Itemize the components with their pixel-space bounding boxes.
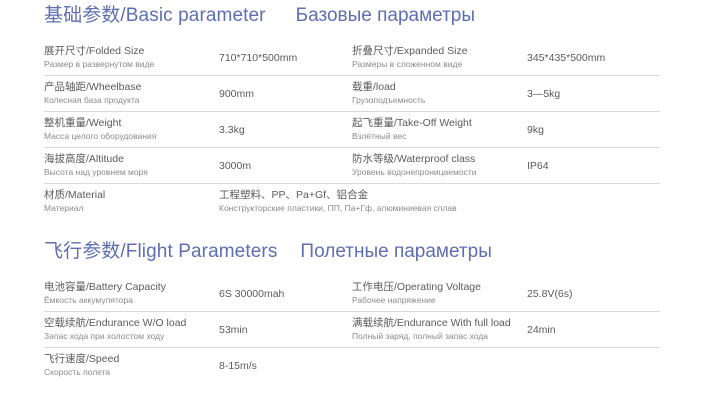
spec-table-flight: 电池容量/Battery Capacity Ёмкость аккумулято… [44, 276, 660, 383]
spec-label: 折叠尺寸/Expanded Size Размеры в сложенном в… [352, 44, 527, 71]
spec-label-sub: Размер в развернутом виде [44, 58, 213, 71]
spec-label: 材质/Material Материал [44, 188, 219, 215]
table-row: 飞行速度/Speed Скорость полета 8-15m/s [44, 347, 660, 383]
spec-label-sub: Полный заряд, полный запас хода [352, 330, 521, 343]
spec-label: 电池容量/Battery Capacity Ёмкость аккумулято… [44, 280, 219, 307]
spec-value-main: 345*435*500mm [527, 51, 660, 65]
section-heading-basic: 基础参数/Basic parameter Базовые параметры [0, 0, 716, 40]
spec-label-sub: Материал [44, 202, 213, 215]
spec-label: 产品轴距/Wheelbase Колесная база продукта [44, 80, 219, 107]
spec-label-sub: Ёмкость аккумулятора [44, 294, 213, 307]
spec-label: 整机重量/Weight Масса целого оборудования [44, 116, 219, 143]
spec-label-sub: Рабочее напряжение [352, 294, 521, 307]
spec-label-sub: Запас хода при холостом ходу [44, 330, 213, 343]
section-heading-flight-cn-en: 飞行参数/Flight Parameters [44, 236, 277, 263]
spec-label-main: 海拔高度/Altitude [44, 152, 213, 166]
spec-value: 8-15m/s [219, 359, 352, 373]
spec-value-main: 900mm [219, 87, 352, 101]
spec-pair-left: 电池容量/Battery Capacity Ёмкость аккумулято… [44, 280, 352, 307]
spec-value-main: 8-15m/s [219, 359, 352, 373]
spec-label-main: 满载续航/Endurance With full load [352, 316, 521, 330]
spec-label-sub: Взлётный вес [352, 130, 521, 143]
spec-value: 53min [219, 323, 352, 337]
spec-label-main: 产品轴距/Wheelbase [44, 80, 213, 94]
spec-value: 3.3kg [219, 123, 352, 137]
spec-pair-left: 空载续航/Endurance W/O load Запас хода при х… [44, 316, 352, 343]
section-heading-flight: 飞行参数/Flight Parameters Полетные параметр… [0, 236, 716, 276]
spec-pair-right: 工作电压/Operating Voltage Рабочее напряжени… [352, 280, 660, 307]
spec-label-main: 防水等级/Waterproof class [352, 152, 521, 166]
spec-label: 海拔高度/Altitude Высота над уровнем моря [44, 152, 219, 179]
spec-label-main: 工作电压/Operating Voltage [352, 280, 521, 294]
spec-label: 防水等级/Waterproof class Уровень водонепрон… [352, 152, 527, 179]
spec-value: 345*435*500mm [527, 51, 660, 65]
spec-label-main: 展开尺寸/Folded Size [44, 44, 213, 58]
spec-value: 900mm [219, 87, 352, 101]
spec-pair-full: 材质/Material Материал 工程塑料、PP、Pa+Gf、铝合金 К… [44, 188, 660, 215]
spec-value-sub: Конструкторские пластики, ПП, Па+Гф, алю… [219, 202, 660, 215]
table-row: 展开尺寸/Folded Size Размер в развернутом ви… [44, 40, 660, 75]
spec-label: 展开尺寸/Folded Size Размер в развернутом ви… [44, 44, 219, 71]
spec-value-main: 3—5kg [527, 87, 660, 101]
spec-pair-left: 展开尺寸/Folded Size Размер в развернутом ви… [44, 44, 352, 71]
spec-label-sub: Высота над уровнем моря [44, 166, 213, 179]
table-row: 产品轴距/Wheelbase Колесная база продукта 90… [44, 75, 660, 111]
spec-label-main: 空载续航/Endurance W/O load [44, 316, 213, 330]
spec-label: 满载续航/Endurance With full load Полный зар… [352, 316, 527, 343]
spec-value-main: IP64 [527, 159, 660, 173]
spec-label-sub: Уровень водонепроницаемости [352, 166, 521, 179]
spec-pair-right: 满载续航/Endurance With full load Полный зар… [352, 316, 660, 343]
spec-label-main: 飞行速度/Speed [44, 352, 213, 366]
spec-value-main: 3000m [219, 159, 352, 173]
spec-value-main: 25.8V(6s) [527, 287, 660, 301]
spec-value-main: 24min [527, 323, 660, 337]
spec-value: 9kg [527, 123, 660, 137]
spec-value: 24min [527, 323, 660, 337]
spec-pair-left: 产品轴距/Wheelbase Колесная база продукта 90… [44, 80, 352, 107]
spec-label-main: 整机重量/Weight [44, 116, 213, 130]
spec-value-main: 710*710*500mm [219, 51, 352, 65]
spec-label-main: 载重/load [352, 80, 521, 94]
spec-label-sub: Размеры в сложенном виде [352, 58, 521, 71]
spec-label-sub: Колесная база продукта [44, 94, 213, 107]
spec-value-main: 53min [219, 323, 352, 337]
spec-value-main: 3.3kg [219, 123, 352, 137]
spec-value-main: 9kg [527, 123, 660, 137]
section-heading-basic-cn-en: 基础参数/Basic parameter [44, 0, 266, 27]
spec-pair-left: 整机重量/Weight Масса целого оборудования 3.… [44, 116, 352, 143]
spec-label: 载重/load Грузоподъемность [352, 80, 527, 107]
spec-value: IP64 [527, 159, 660, 173]
spec-label: 工作电压/Operating Voltage Рабочее напряжени… [352, 280, 527, 307]
spec-label: 起飞重量/Take-Off Weight Взлётный вес [352, 116, 527, 143]
spec-label: 飞行速度/Speed Скорость полета [44, 352, 219, 379]
table-row: 海拔高度/Altitude Высота над уровнем моря 30… [44, 147, 660, 183]
spec-pair-right: 折叠尺寸/Expanded Size Размеры в сложенном в… [352, 44, 660, 71]
spec-value-main: 工程塑料、PP、Pa+Gf、铝合金 [219, 188, 660, 202]
spec-label-sub: Грузоподъемность [352, 94, 521, 107]
spec-label-main: 起飞重量/Take-Off Weight [352, 116, 521, 130]
spec-label-main: 折叠尺寸/Expanded Size [352, 44, 521, 58]
spec-sheet: 基础参数/Basic parameter Базовые параметры 展… [0, 0, 716, 418]
table-row: 材质/Material Материал 工程塑料、PP、Pa+Gf、铝合金 К… [44, 183, 660, 219]
spec-label-main: 电池容量/Battery Capacity [44, 280, 213, 294]
spec-label-sub: Масса целого оборудования [44, 130, 213, 143]
spec-label: 空载续航/Endurance W/O load Запас хода при х… [44, 316, 219, 343]
spec-value: 3000m [219, 159, 352, 173]
spec-value: 3—5kg [527, 87, 660, 101]
table-row: 空载续航/Endurance W/O load Запас хода при х… [44, 311, 660, 347]
spec-value: 25.8V(6s) [527, 287, 660, 301]
section-heading-flight-ru: Полетные параметры [300, 241, 491, 263]
spec-value-main: 6S 30000mah [219, 287, 352, 301]
section-flight-parameters: 飞行参数/Flight Parameters Полетные параметр… [0, 236, 716, 383]
spec-pair-right: 起飞重量/Take-Off Weight Взлётный вес 9kg [352, 116, 660, 143]
spec-label-sub: Скорость полета [44, 366, 213, 379]
table-row: 电池容量/Battery Capacity Ёмкость аккумулято… [44, 276, 660, 311]
spec-value: 710*710*500mm [219, 51, 352, 65]
section-heading-basic-ru: Базовые параметры [296, 5, 475, 27]
spec-label-main: 材质/Material [44, 188, 213, 202]
spec-pair-left: 飞行速度/Speed Скорость полета 8-15m/s [44, 352, 352, 379]
section-basic-parameter: 基础参数/Basic parameter Базовые параметры 展… [0, 0, 716, 219]
spec-table-basic: 展开尺寸/Folded Size Размер в развернутом ви… [44, 40, 660, 219]
spec-value: 工程塑料、PP、Pa+Gf、铝合金 Конструкторские пласти… [219, 188, 660, 215]
spec-pair-left: 海拔高度/Altitude Высота над уровнем моря 30… [44, 152, 352, 179]
spec-value: 6S 30000mah [219, 287, 352, 301]
table-row: 整机重量/Weight Масса целого оборудования 3.… [44, 111, 660, 147]
spec-pair-right: 防水等级/Waterproof class Уровень водонепрон… [352, 152, 660, 179]
spec-pair-right: 载重/load Грузоподъемность 3—5kg [352, 80, 660, 107]
